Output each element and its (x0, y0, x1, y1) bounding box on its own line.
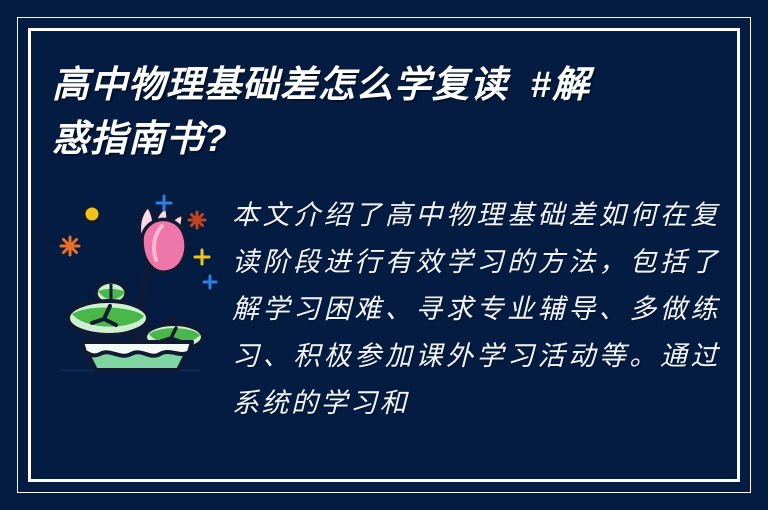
star-sparkle-orange-left (61, 237, 79, 255)
lily-pad-large (68, 301, 148, 335)
firefly-dot (84, 206, 100, 222)
lotus-flower (139, 206, 186, 272)
content-row: 本文介绍了高中物理基础差如何在复读阶段进行有效学习的方法，包括了解学习困难、寻求… (52, 192, 720, 427)
title-line-2: 惑指南书? (52, 112, 712, 166)
cross-sparkle-yellow (195, 250, 209, 264)
page-title: 高中物理基础差怎么学复读 #解 惑指南书? (52, 58, 712, 166)
potted-lotus-plant-illustration (52, 192, 220, 392)
flower-pot (82, 342, 192, 370)
star-sparkle-orange-right (189, 212, 205, 228)
title-line-1: 高中物理基础差怎么学复读 #解 (52, 58, 712, 112)
cross-sparkle-blue-top (157, 196, 171, 210)
diamond-sparkle-blue (204, 276, 216, 288)
article-summary-text: 本文介绍了高中物理基础差如何在复读阶段进行有效学习的方法，包括了解学习困难、寻求… (232, 192, 720, 427)
poster-canvas: 高中物理基础差怎么学复读 #解 惑指南书? (0, 0, 768, 510)
